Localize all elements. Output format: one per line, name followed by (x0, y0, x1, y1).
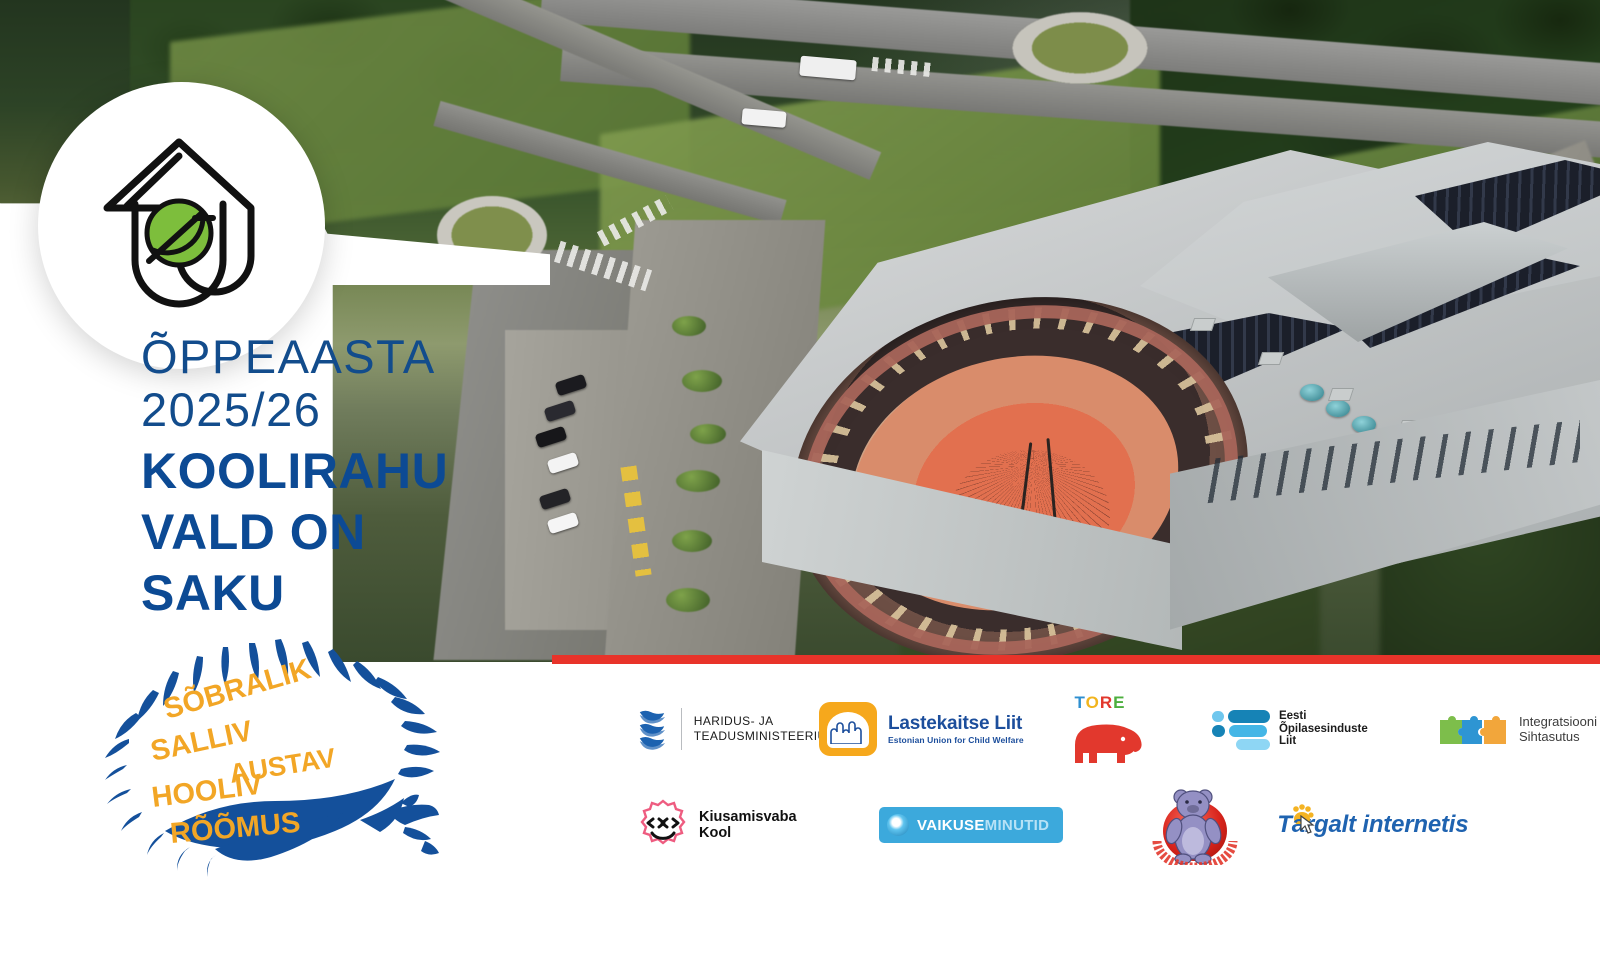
vm-name-light: MINUTID (985, 817, 1050, 834)
tore-letter-3: E (1113, 693, 1125, 712)
kvk-line-2: Kool (699, 825, 797, 841)
kvk-line-1: Kiusamisvaba (699, 809, 797, 825)
headline-bold-line2: VALD ON (141, 506, 541, 558)
partner-logos: HARIDUS- JA TEADUSMINISTEERIUM Lastekait… (552, 670, 1600, 900)
logo-lastekaitse-liit[interactable]: Lastekaitse Liit Estonian Union for Chil… (819, 702, 1051, 756)
headline-year-value: 2025/26 (141, 383, 541, 436)
house-leaf-icon (87, 126, 277, 326)
tore-letter-2: R (1100, 693, 1113, 712)
headline-bold-line3: SAKU (141, 567, 541, 619)
headline-bold-line1: KOOLIRAHU (141, 445, 541, 497)
headline-year-label: ÕPPEAASTA (141, 330, 541, 383)
logo-kiusamisvaba-kool[interactable]: Kiusamisvaba Kool (637, 799, 887, 851)
tore-letter-0: T (1075, 693, 1086, 712)
eol-bars-icon (1212, 710, 1270, 748)
hedgehog-logo: SÕBRALIK SALLIV AUSTAV HOOLIV RÕÕMUS (105, 635, 455, 880)
red-elephant-icon (1067, 713, 1161, 769)
roundabout-upper (1012, 12, 1148, 84)
partner-row-2: Kiusamisvaba Kool VAIKUSEMINUTID (637, 785, 1597, 865)
blue-orb-icon (887, 814, 909, 836)
poster-canvas: saku-vald-house-leaf-logo ÕPPEAASTA 2025… (0, 0, 1600, 964)
saku-vald-badge: saku-vald-house-leaf-logo (38, 82, 325, 369)
logo-kiusamisest-vabaks[interactable]: Kiusamisest vabaks! (1147, 785, 1243, 865)
logo-integratsiooni-sihtasutus[interactable]: Integratsiooni Sihtasutus (1438, 712, 1597, 746)
logo-eesti-opilasesinduste-liit[interactable]: Eesti Õpilasesinduste Liit (1212, 710, 1426, 748)
ti-part-2: rgalt internetis (1305, 811, 1469, 839)
school-building (700, 120, 1600, 662)
lastekaitse-subtitle: Estonian Union for Child Welfare (888, 735, 1024, 745)
lastekaitse-icon (819, 702, 877, 756)
logo-haridus-ja-teadusministeerium[interactable]: HARIDUS- JA TEADUSMINISTEERIUM (637, 707, 837, 751)
eol-line-2: Õpilasesinduste (1279, 723, 1368, 736)
puzzle-pieces-icon (1438, 712, 1510, 746)
kiusamisvaba-badge-icon (637, 799, 689, 851)
ministry-line-2: TEADUSMINISTEERIUM (694, 729, 837, 744)
cursor-icon (1300, 815, 1316, 835)
partner-row-1: HARIDUS- JA TEADUSMINISTEERIUM Lastekait… (637, 695, 1597, 763)
logo-vaikuseminutid[interactable]: VAIKUSEMINUTID (879, 807, 1063, 843)
ministry-line-1: HARIDUS- JA (694, 714, 837, 729)
eol-line-3: Liit (1279, 735, 1368, 748)
logo-tore[interactable]: TORE (1067, 695, 1158, 763)
divider (681, 708, 682, 750)
is-line-2: Sihtasutus (1519, 729, 1597, 744)
purple-bear-icon (1147, 785, 1243, 865)
is-line-1: Integratsiooni (1519, 714, 1597, 729)
hedgehog-illustration: SÕBRALIK SALLIV AUSTAV HOOLIV RÕÕMUS (105, 635, 455, 880)
logo-targalt-internetis[interactable]: T a rgalt internetis (1277, 811, 1468, 839)
red-divider-bar (552, 655, 1600, 664)
skylight (1190, 318, 1216, 331)
hedgehog-word-0: SÕBRALIK (160, 651, 315, 725)
lastekaitse-name: Lastekaitse Liit (888, 713, 1024, 735)
eol-line-1: Eesti (1279, 710, 1368, 723)
vm-name-strong: VAIKUSE (917, 817, 985, 834)
children-silhouette-icon (829, 718, 867, 744)
skylight (1258, 352, 1284, 365)
skylight (1328, 388, 1354, 401)
headline-block: ÕPPEAASTA 2025/26 KOOLIRAHU VALD ON SAKU (141, 330, 541, 619)
estonian-coat-of-arms-icon (637, 707, 669, 751)
tore-letter-1: O (1086, 693, 1100, 712)
